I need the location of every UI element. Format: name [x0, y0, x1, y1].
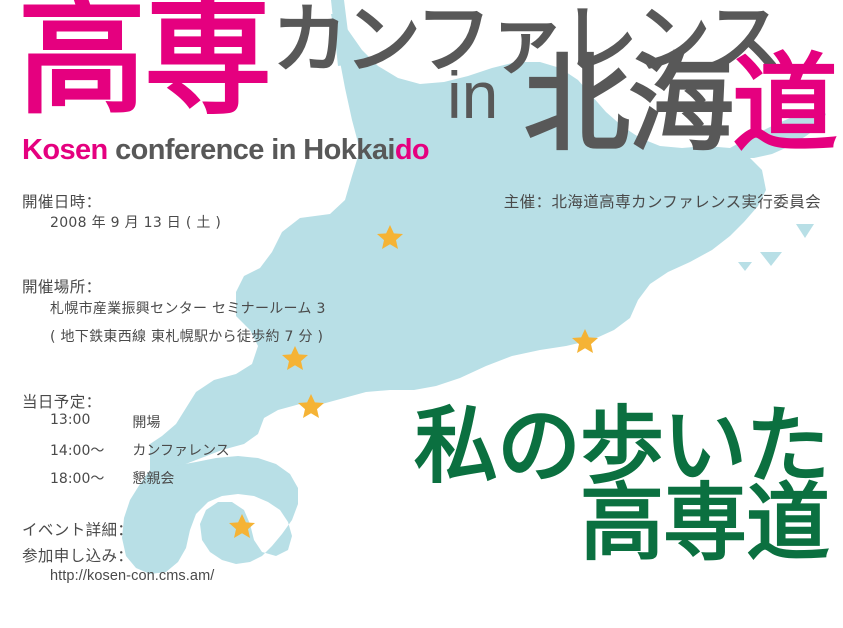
title-do-kanji: 道 [732, 43, 836, 166]
place-access-note: ( 地下鉄東西線 東札幌駅から徒歩約 7 分 ) [50, 326, 323, 346]
schedule-label: 開場 [132, 412, 229, 440]
event-url-link[interactable]: http://kosen-con.cms.am/ [50, 568, 214, 584]
schedule-time: 13:00 [50, 412, 132, 440]
date-heading: 開催日時： [22, 190, 102, 212]
schedule-table-body: 13:00 開場 14:00〜 カンファレンス 18:00〜 懇親会 [50, 412, 230, 496]
romaji-kosen: Kosen [22, 134, 108, 166]
title-romaji-subtitle: Kosen conference in Hokkaido [22, 136, 429, 165]
place-heading: 開催場所： [22, 275, 102, 297]
title-kosen-kanji: 高専 [18, 0, 270, 122]
schedule-time: 14:00〜 [50, 440, 132, 468]
offshore-islet-3 [796, 224, 814, 238]
romaji-do: do [395, 134, 429, 166]
event-detail-heading: イベント詳細： [22, 518, 133, 540]
title-in-word: in [447, 62, 498, 128]
title-hokkaido-kanji: 北海道 [524, 52, 836, 158]
schedule-label: カンファレンス [132, 440, 229, 468]
title-hokkai-kanji: 北海 [524, 43, 732, 166]
romaji-conference-in-hokkai: conference in Hokkai [108, 134, 395, 166]
schedule-label: 懇親会 [132, 468, 229, 496]
organizer-credit: 主催：北海道高専カンファレンス実行委員会 [504, 190, 821, 212]
green-slogan: 私の歩いた 高専道 [414, 408, 829, 563]
table-row: 14:00〜 カンファレンス [50, 440, 230, 468]
place-value: 札幌市産業振興センター セミナールーム 3 [50, 298, 326, 318]
date-value: 2008 年 9 月 13 日 ( 土 ) [50, 212, 221, 232]
table-row: 18:00〜 懇親会 [50, 468, 230, 496]
schedule-heading: 当日予定： [22, 390, 102, 412]
offshore-islet-1 [760, 252, 782, 266]
slogan-line-2: 高専道 [414, 485, 829, 562]
apply-heading: 参加申し込み： [22, 544, 133, 566]
poster-title-block: 高専 カンファレンス in 北海道 Kosen conference in Ho… [0, 0, 843, 175]
table-row: 13:00 開場 [50, 412, 230, 440]
offshore-islet-2 [738, 262, 752, 271]
poster-root: 高専 カンファレンス in 北海道 Kosen conference in Ho… [0, 0, 843, 628]
schedule-time: 18:00〜 [50, 468, 132, 496]
schedule-table: 13:00 開場 14:00〜 カンファレンス 18:00〜 懇親会 [50, 412, 230, 496]
